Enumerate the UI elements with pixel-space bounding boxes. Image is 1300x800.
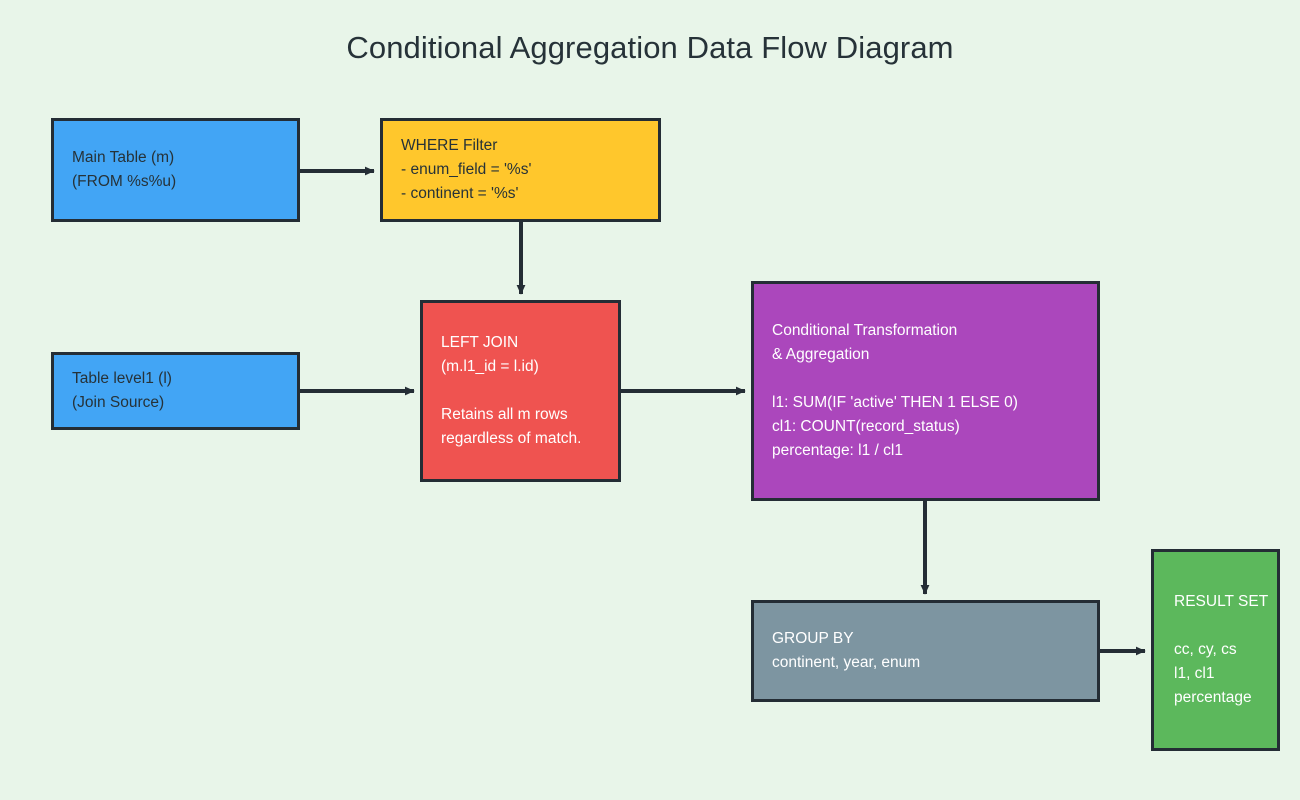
node-left-join-line-1: LEFT JOIN bbox=[441, 331, 600, 355]
node-table-level1-line-2: (Join Source) bbox=[72, 391, 279, 415]
node-main-table-line-2: (FROM %s%u) bbox=[72, 170, 279, 194]
node-where-filter-line-1: WHERE Filter bbox=[401, 134, 640, 158]
node-left-join-line-3 bbox=[441, 379, 600, 403]
node-where-filter[interactable]: WHERE Filter - enum_field = '%s' - conti… bbox=[380, 118, 661, 222]
node-where-filter-line-3: - continent = '%s' bbox=[401, 182, 640, 206]
node-table-level1[interactable]: Table level1 (l) (Join Source) bbox=[51, 352, 300, 430]
node-main-table-line-1: Main Table (m) bbox=[72, 146, 279, 170]
node-conditional-transformation[interactable]: Conditional Transformation & Aggregation… bbox=[751, 281, 1100, 501]
node-result-set-line-4: l1, cl1 bbox=[1174, 662, 1269, 686]
node-conditional-transformation-line-2: & Aggregation bbox=[772, 343, 1079, 367]
node-result-set-line-1: RESULT SET bbox=[1174, 590, 1269, 614]
node-left-join-line-4: Retains all m rows bbox=[441, 403, 600, 427]
node-conditional-transformation-line-1: Conditional Transformation bbox=[772, 319, 1079, 343]
node-conditional-transformation-line-4: l1: SUM(IF 'active' THEN 1 ELSE 0) bbox=[772, 391, 1079, 415]
diagram-canvas: Conditional Aggregation Data Flow Diagra… bbox=[0, 0, 1300, 800]
node-main-table[interactable]: Main Table (m) (FROM %s%u) bbox=[51, 118, 300, 222]
node-left-join-line-5: regardless of match. bbox=[441, 427, 600, 451]
node-left-join[interactable]: LEFT JOIN (m.l1_id = l.id) Retains all m… bbox=[420, 300, 621, 482]
node-conditional-transformation-line-5: cl1: COUNT(record_status) bbox=[772, 415, 1079, 439]
node-where-filter-line-2: - enum_field = '%s' bbox=[401, 158, 640, 182]
node-group-by-line-2: continent, year, enum bbox=[772, 651, 1079, 675]
node-table-level1-line-1: Table level1 (l) bbox=[72, 367, 279, 391]
node-result-set-line-2 bbox=[1174, 614, 1269, 638]
node-group-by[interactable]: GROUP BY continent, year, enum bbox=[751, 600, 1100, 702]
node-group-by-line-1: GROUP BY bbox=[772, 627, 1079, 651]
node-result-set-line-5: percentage bbox=[1174, 686, 1269, 710]
page-title: Conditional Aggregation Data Flow Diagra… bbox=[0, 30, 1300, 66]
node-conditional-transformation-line-3 bbox=[772, 367, 1079, 391]
node-left-join-line-2: (m.l1_id = l.id) bbox=[441, 355, 600, 379]
node-result-set-line-3: cc, cy, cs bbox=[1174, 638, 1269, 662]
node-result-set[interactable]: RESULT SET cc, cy, cs l1, cl1 percentage bbox=[1151, 549, 1280, 751]
node-conditional-transformation-line-6: percentage: l1 / cl1 bbox=[772, 439, 1079, 463]
